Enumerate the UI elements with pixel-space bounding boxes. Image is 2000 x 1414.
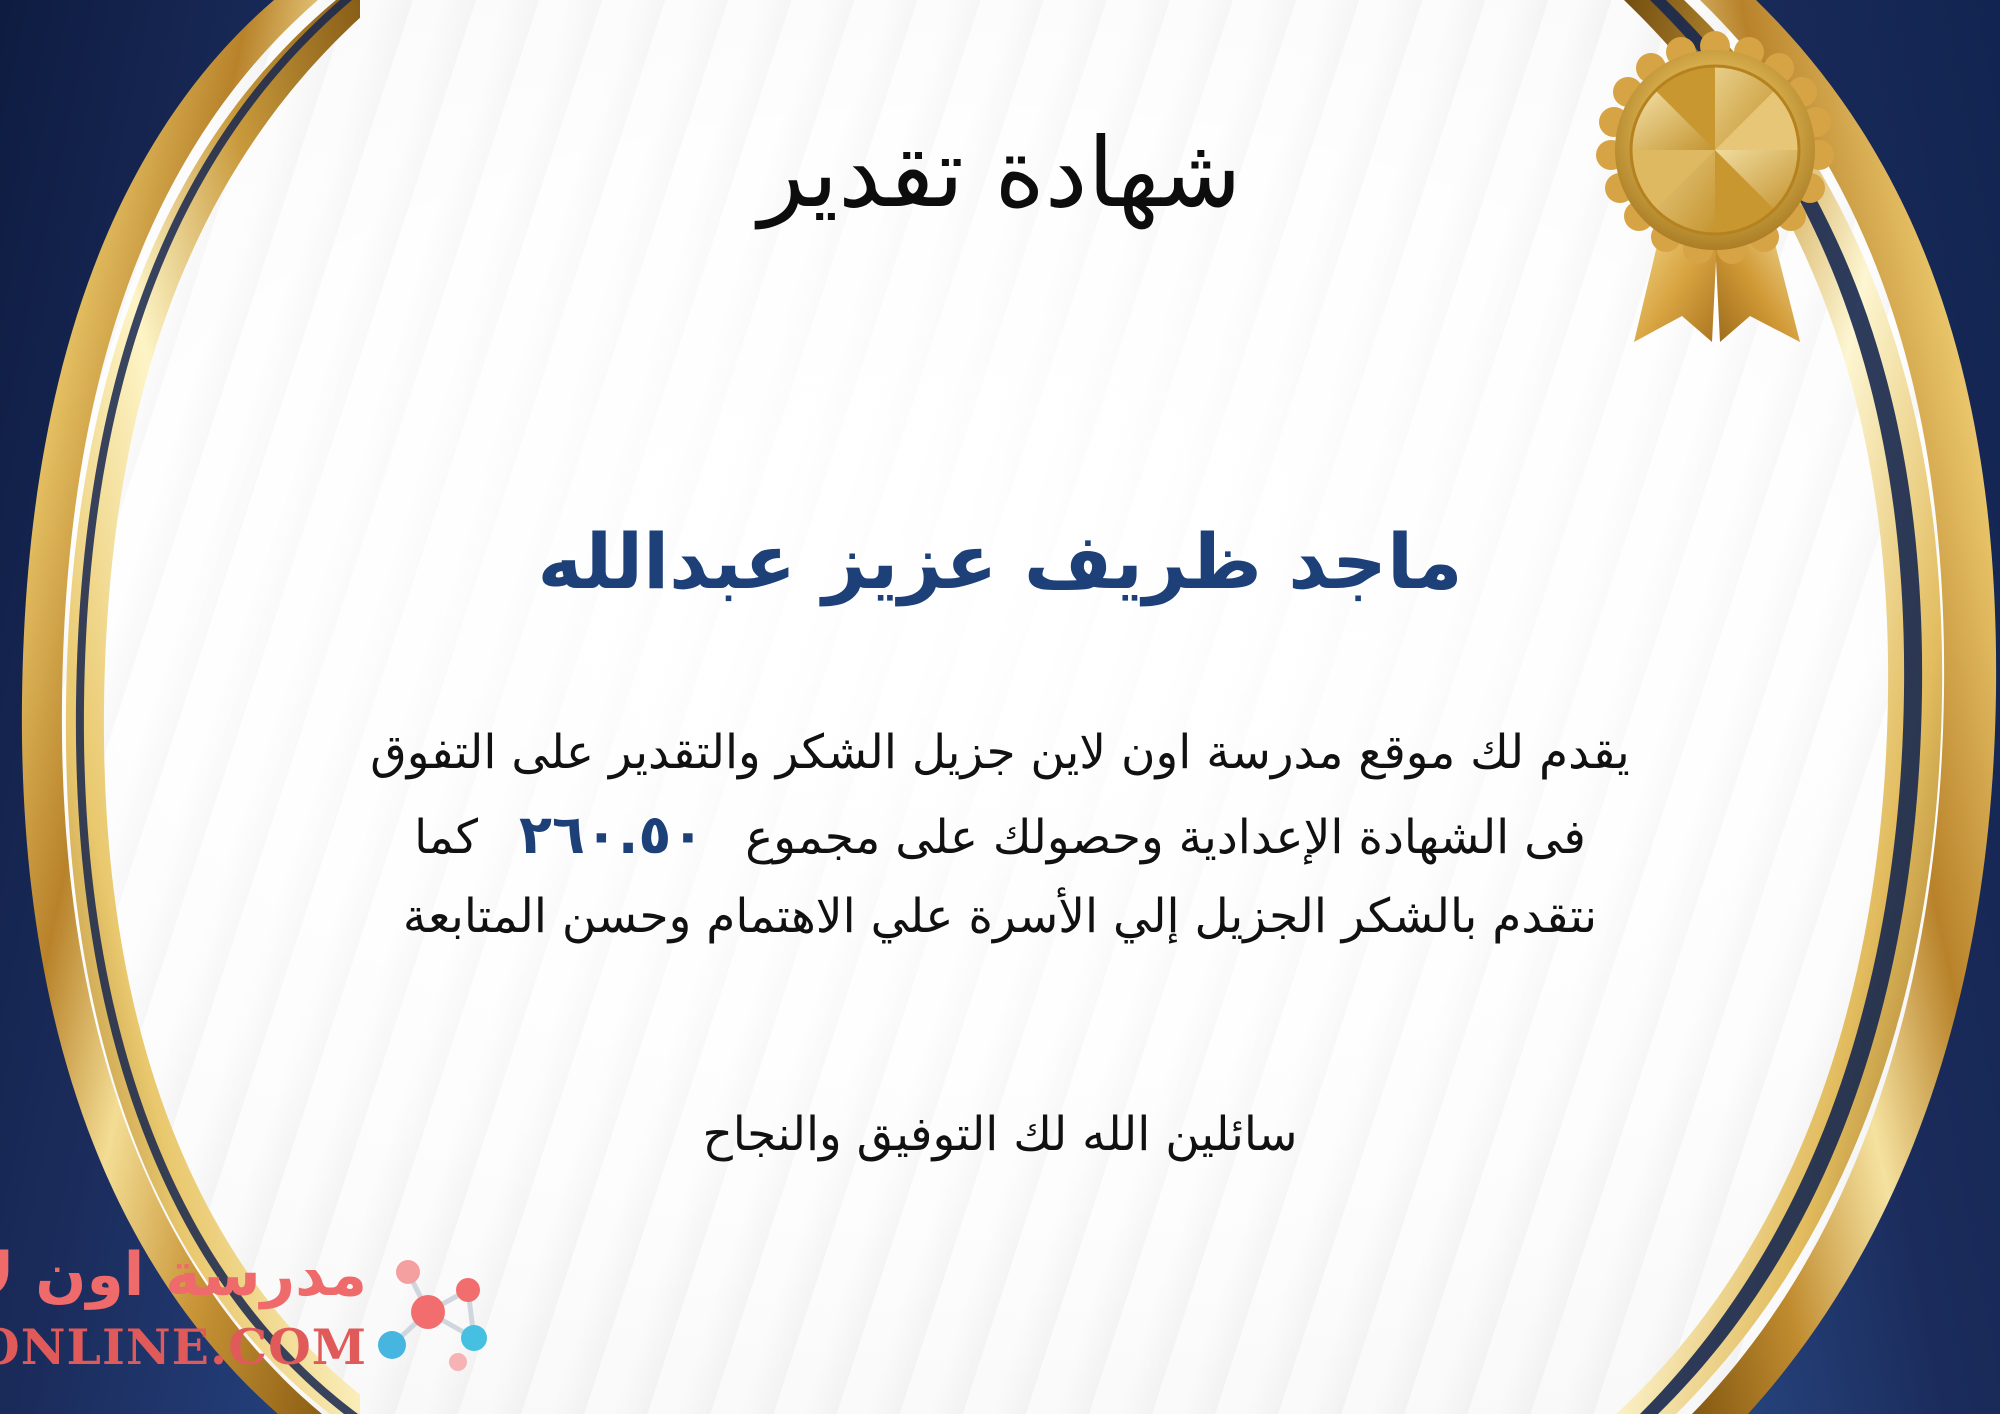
recipient-name: ماجد ظريف عزيز عبدالله bbox=[0, 520, 2000, 604]
closing-line: سائلين الله لك التوفيق والنجاح bbox=[0, 1100, 2000, 1171]
body-line-1: يقدم لك موقع مدرسة اون لاين جزيل الشكر و… bbox=[120, 715, 1880, 791]
certificate-title: شهادة تقدير bbox=[0, 125, 2000, 221]
brand-arabic-name: مدرسة اون لاين bbox=[0, 1240, 367, 1310]
certificate-canvas: شهادة تقدير ماجد ظريف عزيز عبدالله يقدم … bbox=[0, 0, 2000, 1414]
score-value: ٢٦٠.٥٠ bbox=[493, 803, 730, 866]
brand-logo[interactable]: مدرسة اون لاين MADRSA-ONLINE.COM bbox=[22, 1240, 542, 1390]
molecule-network-icon bbox=[362, 1250, 502, 1385]
brand-website: MADRSA-ONLINE.COM bbox=[0, 1318, 367, 1376]
body-line-2-text: فى الشهادة الإعدادية وحصولك على مجموع bbox=[745, 810, 1586, 865]
body-line-2: فى الشهادة الإعدادية وحصولك على مجموع ٢٦… bbox=[120, 791, 1880, 878]
certificate-body: يقدم لك موقع مدرسة اون لاين جزيل الشكر و… bbox=[120, 715, 1880, 955]
body-line-2-suffix: كما bbox=[414, 810, 478, 865]
body-line-3: نتقدم بالشكر الجزيل إلي الأسرة علي الاهت… bbox=[120, 879, 1880, 955]
certificate-content: شهادة تقدير ماجد ظريف عزيز عبدالله يقدم … bbox=[0, 0, 2000, 1414]
